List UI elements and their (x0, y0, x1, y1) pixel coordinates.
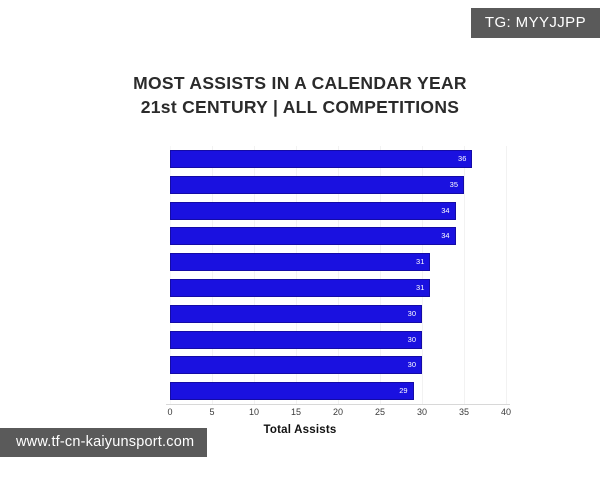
bar-row[interactable]: Mesut Ozil (2011)31 (170, 275, 506, 301)
x-tick-label: 0 (150, 407, 190, 417)
bar-value-label: 35 (424, 176, 458, 194)
bar-row[interactable]: Xavi (2009)30 (170, 327, 506, 353)
tg-badge: TG: MYYJJPP (471, 8, 600, 38)
bar[interactable] (170, 202, 456, 220)
bar-value-label: 31 (390, 253, 424, 271)
x-tick-label: 5 (192, 407, 232, 417)
bar-value-label: 30 (382, 356, 416, 374)
x-tick-label: 35 (444, 407, 484, 417)
bar-value-label: 36 (432, 150, 466, 168)
bar-value-label: 30 (382, 305, 416, 323)
bar-value-label: 29 (374, 382, 408, 400)
bar[interactable] (170, 176, 464, 194)
bar-row[interactable]: Neymar (2016)30 (170, 301, 506, 327)
x-tick-label: 40 (486, 407, 526, 417)
bar-value-label: 34 (416, 227, 450, 245)
gridline (506, 146, 507, 404)
bar-row[interactable]: Thierry Henry (2003)34 (170, 198, 506, 224)
site-watermark: www.tf-cn-kaiyunsport.com (0, 428, 207, 458)
chart-title: MOST ASSISTS IN A CALENDAR YEAR 21st CEN… (0, 72, 600, 119)
bar[interactable] (170, 150, 472, 168)
bar-value-label: 30 (382, 331, 416, 349)
chart-plot-area: Lionel Messi (2011)36Dusan Tadic (2021)3… (170, 146, 506, 404)
chart-title-line-2: 21st CENTURY | ALL COMPETITIONS (0, 96, 600, 120)
bar-value-label: 31 (390, 279, 424, 297)
x-tick-label: 15 (276, 407, 316, 417)
x-tick-label: 30 (402, 407, 442, 417)
x-axis-line (166, 404, 510, 405)
bar-row[interactable]: Mesut Ozil (2012)29 (170, 378, 506, 404)
bar-row[interactable]: Thomas Muller (2021)30 (170, 352, 506, 378)
bar-row[interactable]: Dusan Tadic (2021)35 (170, 172, 506, 198)
bar-row[interactable]: Lionel Messi (2011)36 (170, 146, 506, 172)
x-tick-label: 10 (234, 407, 274, 417)
x-tick-label: 20 (318, 407, 358, 417)
bar-row[interactable]: Dusan Tadic (2019)34 (170, 223, 506, 249)
bar[interactable] (170, 227, 456, 245)
x-tick-label: 25 (360, 407, 400, 417)
bar-row[interactable]: Lionel Messi (2016)31 (170, 249, 506, 275)
chart-title-line-1: MOST ASSISTS IN A CALENDAR YEAR (133, 73, 467, 93)
bar-value-label: 34 (416, 202, 450, 220)
